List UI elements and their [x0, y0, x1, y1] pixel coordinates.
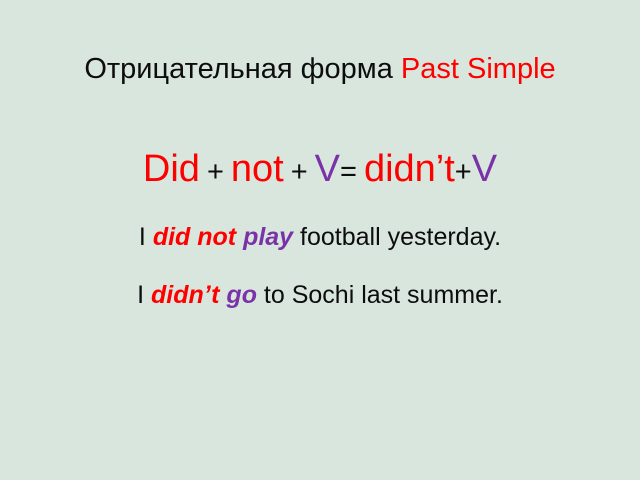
page-title: Отрицательная форма Past Simple	[40, 52, 600, 86]
formula-line: Did+not+V=didn’t+V	[20, 150, 620, 190]
formula-equals: =	[340, 156, 357, 188]
formula-plus-2: +	[291, 156, 308, 188]
formula-verb-2: V	[472, 148, 497, 190]
example-negative: didn’t	[151, 281, 226, 309]
title-static-text: Отрицательная форма	[84, 53, 401, 85]
formula-plus-1: +	[207, 156, 224, 188]
example-sentence: I did not play football yesterday.	[108, 220, 532, 256]
example-sentence: I didn’t go to Sochi last summer.	[108, 278, 532, 314]
example-subject: I	[137, 281, 151, 309]
example-rest: football yesterday.	[293, 223, 501, 251]
formula-verb-1: V	[315, 148, 340, 190]
example-verb: go	[226, 281, 257, 309]
formula-plus-3: +	[455, 156, 472, 188]
example-negative: did not	[153, 223, 243, 251]
examples-list: I did not play football yesterday. I did…	[108, 220, 532, 313]
formula-didnt: didn’t	[364, 148, 455, 190]
formula-not: not	[231, 148, 284, 190]
example-verb: play	[243, 223, 293, 251]
title-accent-text: Past Simple	[401, 53, 556, 85]
slide-canvas: Отрицательная форма Past Simple Did+not+…	[0, 0, 640, 480]
example-subject: I	[139, 223, 153, 251]
formula-did: Did	[143, 148, 200, 190]
example-rest: to Sochi last summer.	[257, 281, 503, 309]
